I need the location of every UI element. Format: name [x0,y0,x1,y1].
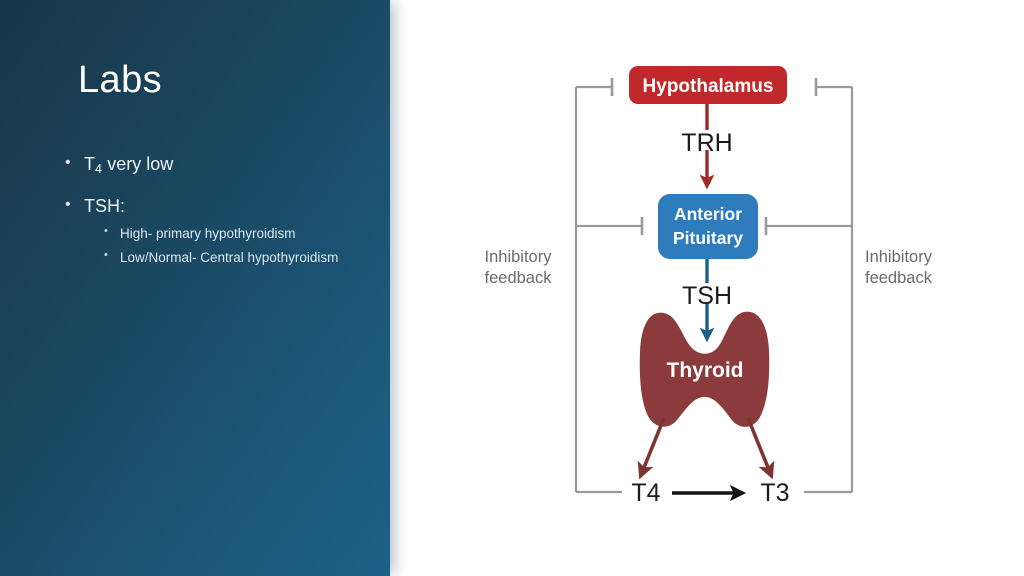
node-hypothalamus[interactable]: Hypothalamus [629,66,787,104]
sub-bullet-glyph: • [104,224,108,240]
thyroid-output-arrows [643,418,769,470]
slide-canvas: Labs • T4 very low • TSH: • High- primar… [0,0,1024,576]
anterior-pituitary-label-line2: Pituitary [673,228,743,248]
bullet-item-tsh: • TSH: [58,194,378,218]
bullet-item-t4: • T4 very low [58,152,378,178]
sub-bullet-list: • High- primary hypothyroidism • Low/Nor… [58,224,378,267]
thyroid-gland: Thyroid [640,312,769,427]
svg-text:feedback: feedback [865,269,933,287]
feedback-right-label: Inhibitory feedback [865,248,933,287]
sub-bullet-item-lownormal: • Low/Normal- Central hypothyroidism [100,248,378,267]
sub-bullet-text-high: High- primary hypothyroidism [120,226,296,241]
node-anterior-pituitary[interactable]: Anterior Pituitary [658,194,758,259]
left-content-panel: Labs • T4 very low • TSH: • High- primar… [0,0,390,576]
page-title: Labs [78,60,162,102]
sub-bullet-text-lownormal: Low/Normal- Central hypothyroidism [120,250,338,265]
hpt-axis-diagram: TRH TSH Thyroid T4 T3 [400,0,1024,576]
bullet-glyph: • [65,152,71,174]
sub-bullet-item-high: • High- primary hypothyroidism [100,224,378,243]
t3-label: T3 [760,479,789,507]
feedback-left-bracket [576,78,642,492]
t4-label: T4 [631,479,660,507]
feedback-left-label: Inhibitory feedback [485,248,553,287]
sub-bullet-glyph: • [104,248,108,264]
trh-label: TRH [681,129,732,157]
bullet-list: • T4 very low • TSH: • High- primary hyp… [58,152,378,272]
bullet-text-t4: T4 very low [84,154,173,174]
tsh-label: TSH [682,282,732,310]
bullet-text-t4-prefix: T [84,154,95,174]
feedback-right-bracket [766,78,852,492]
svg-text:Inhibitory: Inhibitory [865,248,933,266]
hypothalamus-label: Hypothalamus [643,76,774,97]
thyroid-label: Thyroid [667,359,744,382]
svg-text:Inhibitory: Inhibitory [485,248,553,266]
bullet-glyph: • [65,194,71,216]
bullet-text-t4-suffix: very low [102,154,173,174]
anterior-pituitary-label-line1: Anterior [674,204,742,224]
svg-text:feedback: feedback [485,269,553,287]
bullet-text-tsh: TSH: [84,196,125,216]
